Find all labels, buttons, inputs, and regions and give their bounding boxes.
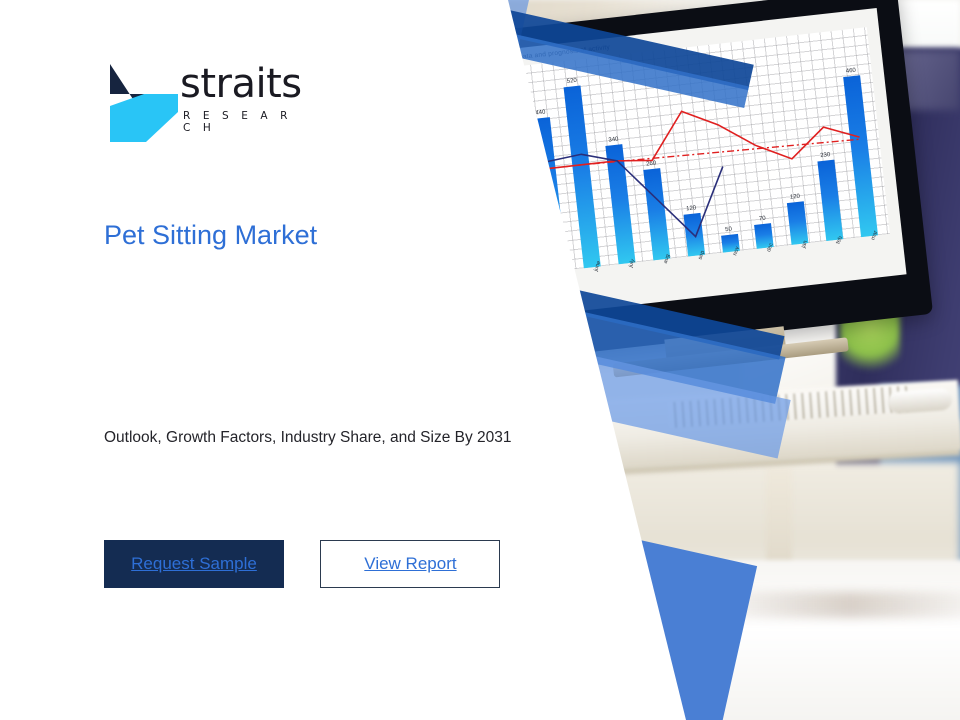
request-sample-label: Request Sample (131, 554, 257, 574)
page-title: Pet Sitting Market (104, 218, 524, 252)
request-sample-button[interactable]: Request Sample (104, 540, 284, 588)
brand-logo[interactable]: straits R E S E A R C H (104, 58, 304, 150)
view-report-label: View Report (364, 554, 456, 574)
chevron-arrow-logo-icon (104, 60, 182, 146)
slide-canvas: Data and prognosis of activity 440520340… (0, 0, 960, 720)
logo-subword: R E S E A R C H (183, 110, 310, 134)
cta-button-row: Request Sample View Report (104, 540, 500, 588)
logo-wordmark: straits R E S E A R C H (180, 64, 310, 134)
page-subtitle: Outlook, Growth Factors, Industry Share,… (104, 426, 544, 450)
left-content: straits R E S E A R C H Pet Sitting Mark… (0, 0, 520, 720)
view-report-button[interactable]: View Report (320, 540, 500, 588)
logo-word: straits (180, 64, 310, 104)
